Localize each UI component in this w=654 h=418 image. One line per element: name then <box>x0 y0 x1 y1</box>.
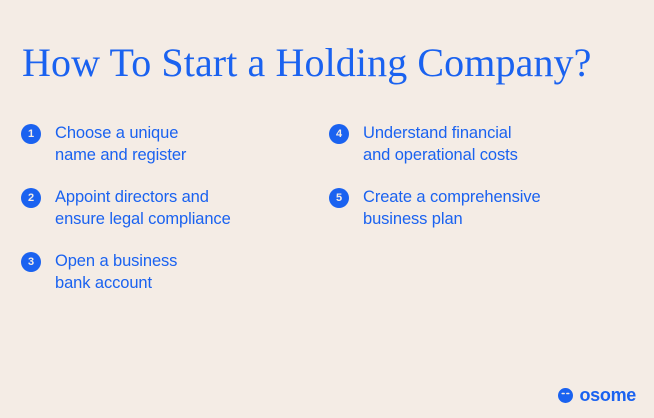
logo-wordmark: osome <box>579 386 636 404</box>
steps-container: 1 Choose a unique name and register 2 Ap… <box>0 122 654 322</box>
step-item: 5 Create a comprehensive business plan <box>329 186 639 230</box>
step-item: 4 Understand financial and operational c… <box>329 122 639 166</box>
step-label: Create a comprehensive business plan <box>363 186 639 230</box>
step-number-badge: 4 <box>329 124 349 144</box>
step-number-badge: 3 <box>21 252 41 272</box>
step-label: Open a business bank account <box>55 250 321 294</box>
infographic-poster: How To Start a Holding Company? 1 Choose… <box>0 0 654 418</box>
steps-column-left: 1 Choose a unique name and register 2 Ap… <box>21 122 321 314</box>
osome-face-icon <box>558 388 573 403</box>
step-number-badge: 2 <box>21 188 41 208</box>
step-label: Appoint directors and ensure legal compl… <box>55 186 321 230</box>
page-title: How To Start a Holding Company? <box>22 39 632 87</box>
step-item: 2 Appoint directors and ensure legal com… <box>21 186 321 230</box>
step-label: Understand financial and operational cos… <box>363 122 639 166</box>
steps-column-right: 4 Understand financial and operational c… <box>329 122 639 250</box>
brand-logo: osome <box>558 386 636 404</box>
step-item: 3 Open a business bank account <box>21 250 321 294</box>
step-item: 1 Choose a unique name and register <box>21 122 321 166</box>
step-label: Choose a unique name and register <box>55 122 321 166</box>
step-number-badge: 1 <box>21 124 41 144</box>
step-number-badge: 5 <box>329 188 349 208</box>
